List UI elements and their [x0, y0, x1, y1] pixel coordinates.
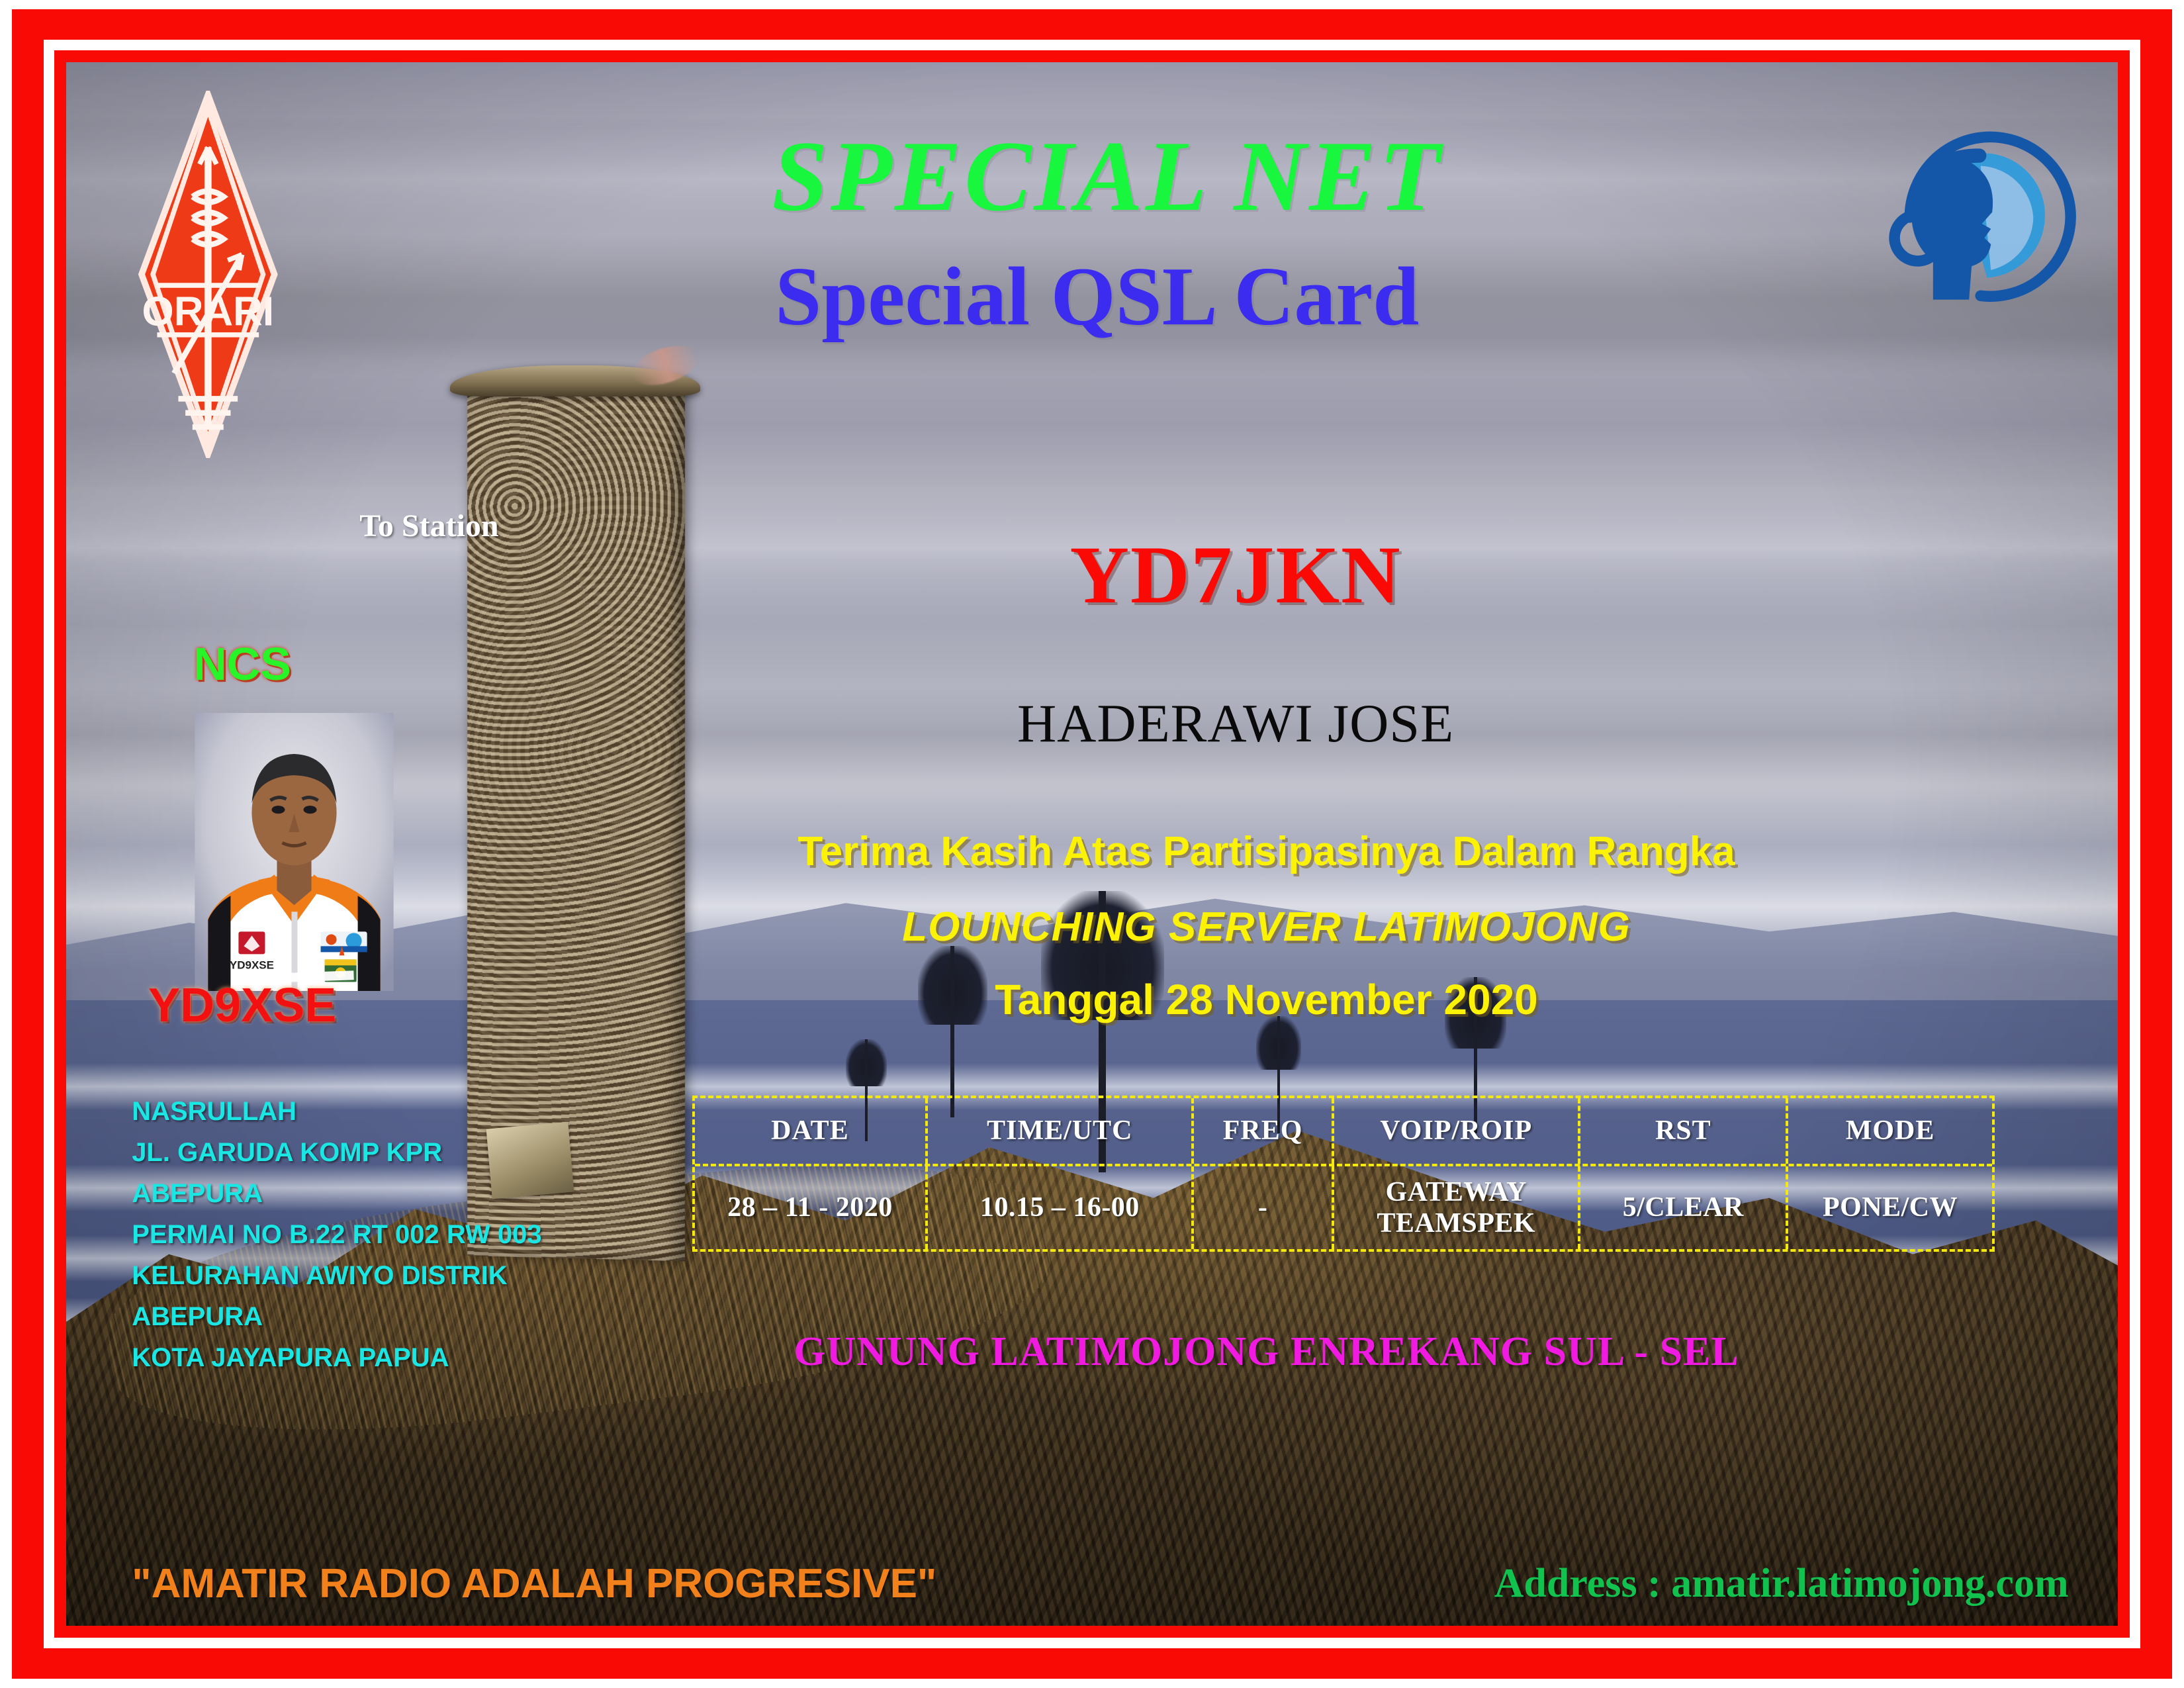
page-title-special-net: SPECIAL NET	[66, 118, 2118, 234]
cell-time: 10.15 – 16-00	[928, 1166, 1194, 1250]
cell-rst: 5/CLEAR	[1580, 1166, 1788, 1250]
address-line: ABEPURA	[132, 1296, 541, 1337]
address-line: KOTA JAYAPURA PAPUA	[132, 1337, 541, 1378]
svg-text:YD9XSE: YD9XSE	[229, 959, 273, 971]
background-photo: ORARI	[66, 62, 2118, 1626]
station-callsign: YD7JKN	[764, 528, 1707, 622]
mountain-location-caption: GUNUNG LATIMOJONG ENREKANG SUL - SEL	[651, 1329, 1882, 1376]
overlay-layer: ORARI	[66, 62, 2118, 1626]
column-header-time: TIME/UTC	[928, 1098, 1194, 1164]
address-line: JL. GARUDA KOMP KPR	[132, 1132, 541, 1173]
cell-mode: PONE/CW	[1788, 1166, 1992, 1250]
footer-address: Address : amatir.latimojong.com	[1494, 1560, 2069, 1607]
address-line: NASRULLAH	[132, 1091, 541, 1132]
address-line: ABEPURA	[132, 1173, 541, 1214]
thanks-line-3-date: Tanggal 28 November 2020	[672, 975, 1862, 1024]
table-row: 28 – 11 - 2020 10.15 – 16-00 - GATEWAY T…	[695, 1164, 1993, 1250]
cell-date: 28 – 11 - 2020	[695, 1166, 929, 1250]
address-line: PERMAI NO B.22 RT 002 RW 003	[132, 1214, 541, 1255]
to-station-label: To Station	[359, 508, 498, 544]
sender-address-block: NASRULLAH JL. GARUDA KOMP KPR ABEPURA PE…	[132, 1091, 541, 1378]
column-header-voip-roip: VOIP/ROIP	[1334, 1098, 1580, 1164]
column-header-mode: MODE	[1788, 1098, 1992, 1164]
column-header-freq: FREQ	[1194, 1098, 1334, 1164]
cell-voip-roip: GATEWAY TEAMSPEK	[1334, 1166, 1580, 1250]
operator-name: HADERAWI JOSE	[764, 692, 1707, 755]
column-header-date: DATE	[695, 1098, 929, 1164]
column-header-rst: RST	[1580, 1098, 1788, 1164]
ncs-label: NCS	[193, 637, 291, 690]
cell-freq: -	[1194, 1166, 1334, 1250]
thanks-line-2-event: LOUNCHING SERVER LATIMOJONG	[672, 904, 1862, 951]
footer-slogan: "AMATIR RADIO ADALAH PROGRESIVE"	[132, 1560, 936, 1607]
table-header-row: DATE TIME/UTC FREQ VOIP/ROIP RST MODE	[695, 1098, 1993, 1164]
address-line: KELURAHAN AWIYO DISTRIK	[132, 1255, 541, 1296]
subtitle-special-qsl-card: Special QSL Card	[66, 250, 2118, 345]
qso-log-table: DATE TIME/UTC FREQ VOIP/ROIP RST MODE 28…	[692, 1096, 1995, 1252]
ncs-operator-portrait: YD9XSE	[161, 713, 428, 991]
qsl-card: ORARI	[0, 0, 2184, 1688]
ncs-callsign: YD9XSE	[148, 978, 336, 1033]
thanks-line-1: Terima Kasih Atas Partisipasinya Dalam R…	[672, 828, 1862, 875]
